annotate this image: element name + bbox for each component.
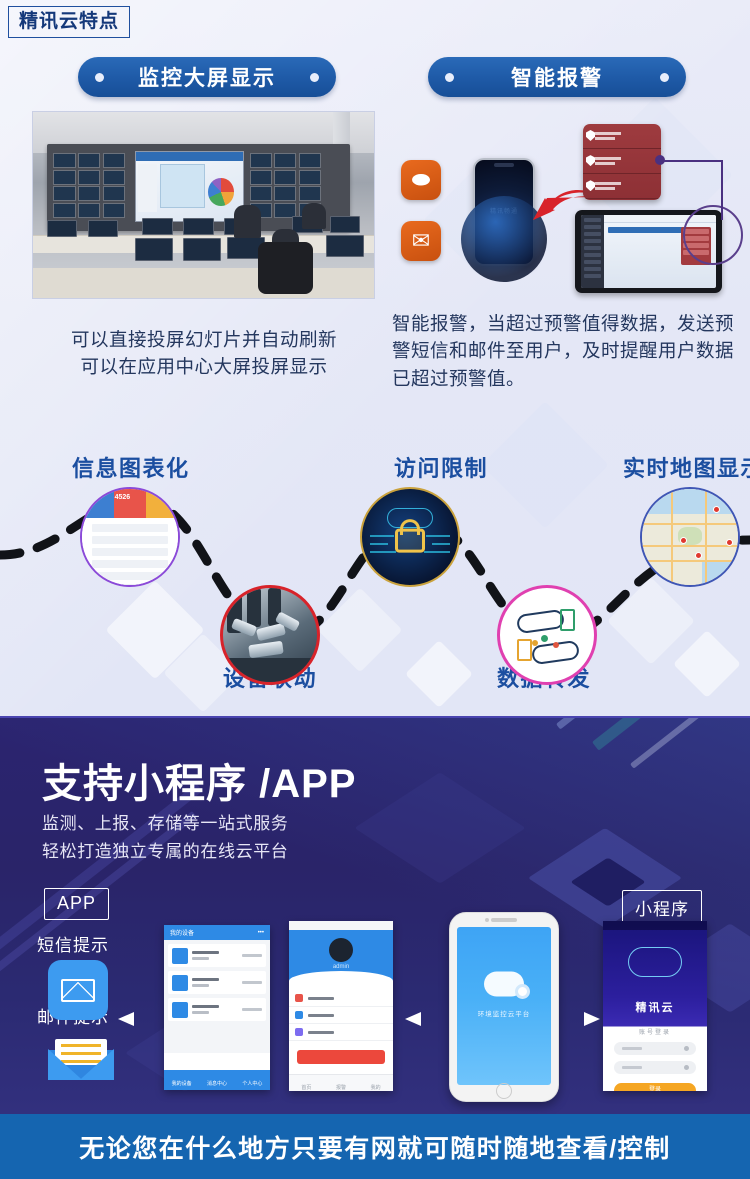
feature-icon-map [640,487,740,587]
list-item[interactable] [168,998,266,1021]
tab-messages[interactable]: 消息中心 [199,1070,234,1090]
phone-mockup-splash: 环境监控云平台 [449,912,559,1102]
menu-item-about[interactable] [289,990,393,1007]
dashboard-sidebar [138,164,156,212]
tag-app: APP [44,888,109,920]
circuit-line [370,551,396,553]
menu-item-settings[interactable] [289,1007,393,1024]
feature-title-access: 访问限制 [394,451,488,483]
hand-icon [516,609,565,634]
caption-alarm: 智能报警，当超过预警值得数据，发送预警短信和邮件至用户，及时提醒用户数据已超过预… [392,310,742,392]
sensor-icon [172,975,188,991]
flow-arrow-right [556,1012,600,1026]
tablet-sidebar [581,215,604,288]
phone-camera-icon [485,918,489,922]
decor-ray [556,716,750,730]
chip-icon [517,639,532,662]
photo-monitor [299,186,321,201]
photo-dashboard-screen [135,151,244,222]
dashboard-pie-chart [208,178,234,205]
splash-screen: 环境监控云平台 [457,927,551,1085]
phone-icon [295,1028,303,1036]
circuit-line [370,535,394,537]
photo-desk-monitor [183,238,221,260]
photo-monitor [299,153,321,168]
photo-monitor [53,153,75,168]
avatar [329,938,353,962]
list-item-text [192,978,238,987]
screenshot-device-list: 我的设备 ••• 我的设备 消息中心 个人中心 [164,925,270,1090]
tab-mine[interactable]: 我的 [358,1075,393,1091]
caption-monitor: 可以直接投屏幻灯片并自动刷新 可以在应用中心大屏投屏显示 [0,326,408,381]
mail-open-icon [48,1030,114,1080]
feature-title-chart: 信息图表化 [72,451,190,483]
photo-desk-monitor [88,220,119,237]
cloud-icon [628,947,682,977]
screenshot-login: 精讯云 账号登录 登录 [603,921,707,1091]
photo-person [302,203,326,229]
subtitle-line-2: 轻松打造独立专属的在线云平台 [42,838,288,866]
photo-monitor [250,153,272,168]
chart-kpi-value: 4526 [115,494,131,501]
list-item-text [192,951,238,960]
circuit-line [426,535,450,537]
device-list-header: 我的设备 ••• [164,925,270,940]
envelope-icon [61,979,95,1002]
gear-icon [295,1011,303,1019]
top-features-section: 精讯云特点 监控大屏显示 智能报警 [0,0,750,716]
machine-part [247,588,260,627]
list-item[interactable] [168,944,266,967]
data-node-icon [553,642,559,648]
login-button[interactable]: 登录 [614,1083,696,1091]
photo-desk-monitor [142,218,173,235]
tab-bar: 我的设备 消息中心 个人中心 [164,1070,270,1090]
phone-speaker [491,918,517,922]
photo-monitor [274,170,296,185]
photo-monitor [103,153,125,168]
map-road [642,560,738,562]
mail-app-icon: ✉ [401,221,441,261]
machine-base [223,658,317,682]
photo-chair [258,242,313,294]
shield-icon [586,155,595,166]
pill-dot-right-icon [310,73,319,82]
dashboard-map [160,164,205,208]
gear-icon [515,984,530,999]
dashboard-header [136,152,243,161]
sensor-icon [172,948,188,964]
chip-icon [560,609,575,632]
map-road [705,489,707,585]
mail-letter [55,1039,106,1065]
flow-arrow-left [405,1012,449,1026]
device-list [164,940,270,1053]
photo-desk-monitor [47,220,78,237]
tab-home[interactable]: 首页 [289,1075,324,1091]
profile-hero: admin [289,930,393,982]
login-form: 账号登录 登录 [603,1027,707,1091]
photo-monitor [53,203,75,218]
photo-monitor [78,203,100,218]
map-road [642,523,738,525]
login-brand: 精讯云 [603,999,707,1015]
feature-icon-forward [497,585,597,685]
pill-label: 智能报警 [511,62,603,92]
photo-monitor [274,186,296,201]
chart-table-rows [82,520,178,585]
tab-profile[interactable]: 个人中心 [235,1070,270,1090]
sms-app-icon: ⬬ [401,160,441,200]
circuit-line [370,543,388,545]
feature-title-map: 实时地图显示 [623,451,750,483]
screenshot-profile: admin 首页 报警 我的 [289,921,393,1091]
shield-icon [586,130,595,141]
shield-icon [586,180,595,191]
decor-iso-block [354,772,525,883]
photo-monitor [299,170,321,185]
photo-monitor [103,186,125,201]
control-room-photo [32,111,375,299]
zoom-callout-circle [683,205,743,265]
phone-notch [494,163,514,167]
circuit-line [432,543,450,545]
photo-desk [33,268,374,298]
photo-monitor [250,170,272,185]
photo-monitor [53,186,75,201]
pill-dot-left-icon [95,73,104,82]
alert-row [583,174,661,199]
kpi-orange [146,489,178,518]
photo-desk-monitor [330,216,361,233]
photo-monitor [103,170,125,185]
data-node-icon [541,635,548,642]
photo-monitor [78,153,100,168]
lock-icon [395,529,425,553]
sensor-icon [172,1002,188,1018]
more-icon: ••• [258,930,264,936]
tab-bar: 首页 报警 我的 [289,1074,393,1091]
photo-desk-monitor [135,238,173,260]
splash-label: 环境监控云平台 [457,1008,551,1018]
alert-text [595,132,621,140]
logout-button[interactable] [297,1050,385,1064]
pill-label: 监控大屏显示 [138,62,276,92]
photo-desk-monitor [183,218,214,235]
feature-icon-chart: 4526 [80,487,180,587]
photo-monitor [78,186,100,201]
pill-header-alarm: 智能报警 [428,57,686,97]
list-item-text [192,1005,238,1014]
home-button[interactable] [496,1083,512,1099]
username-input[interactable] [614,1042,696,1055]
tab-alarm[interactable]: 报警 [324,1075,359,1091]
callout-line [721,160,723,220]
photo-person [234,205,261,238]
about-icon [295,994,303,1002]
sms-icon [48,960,108,1020]
phone-mockup-dark: 精讯畅通 [473,158,535,266]
callout-dot [655,155,665,165]
pill-dot-left-icon [445,73,454,82]
password-input[interactable] [614,1061,696,1074]
feature-icon-device [220,585,320,685]
caption-line-1: 可以直接投屏幻灯片并自动刷新 [0,326,408,353]
photo-monitor [274,153,296,168]
alert-row [583,149,661,174]
profile-username: admin [289,964,393,970]
map-road [671,489,673,585]
login-form-title: 账号登录 [603,1027,707,1036]
alert-text [595,157,621,165]
list-item-meta [242,981,262,984]
map-road [642,545,738,547]
alert-text [595,182,621,190]
robot-arm [249,640,284,658]
section-title: 支持小程序 /APP [42,751,356,809]
status-bar [603,921,707,930]
data-node-icon [532,640,538,646]
map-water [642,489,738,514]
tab-devices[interactable]: 我的设备 [164,1070,199,1090]
photo-monitor [78,170,100,185]
alert-row [583,124,661,149]
section-subtitle: 监测、上报、存储等一站式服务 轻松打造独立专属的在线云平台 [42,810,288,865]
status-bar [289,921,393,930]
list-item-meta [242,954,262,957]
photo-monitor [53,170,75,185]
profile-menu [289,982,393,1041]
menu-item-change-phone[interactable] [289,1024,393,1041]
list-item-meta [242,1008,262,1011]
bottom-banner: 无论您在什么地方只要有网就可随时随地查看/控制 [0,1114,750,1179]
feature-icon-access [360,487,460,587]
pill-dot-right-icon [660,73,669,82]
label-sms-alert: 短信提示 [37,931,109,956]
list-item[interactable] [168,971,266,994]
photo-monitor [250,186,272,201]
photo-desk-monitor [326,235,364,257]
kpi-blue [82,489,114,518]
circuit-line [424,551,450,553]
alarm-illustration: ⬬ ✉ 精讯畅通 [383,110,745,306]
brand-badge: 精讯云特点 [8,6,130,38]
pill-header-monitor: 监控大屏显示 [78,57,336,97]
photo-monitor [103,203,125,218]
subtitle-line-1: 监测、上报、存储等一站式服务 [42,810,288,838]
alert-popup-card [583,124,661,200]
device-list-title: 我的设备 [170,928,194,937]
decor-ray [630,716,750,769]
callout-line [661,160,723,162]
caption-line-2: 可以在应用中心大屏投屏显示 [0,353,408,380]
